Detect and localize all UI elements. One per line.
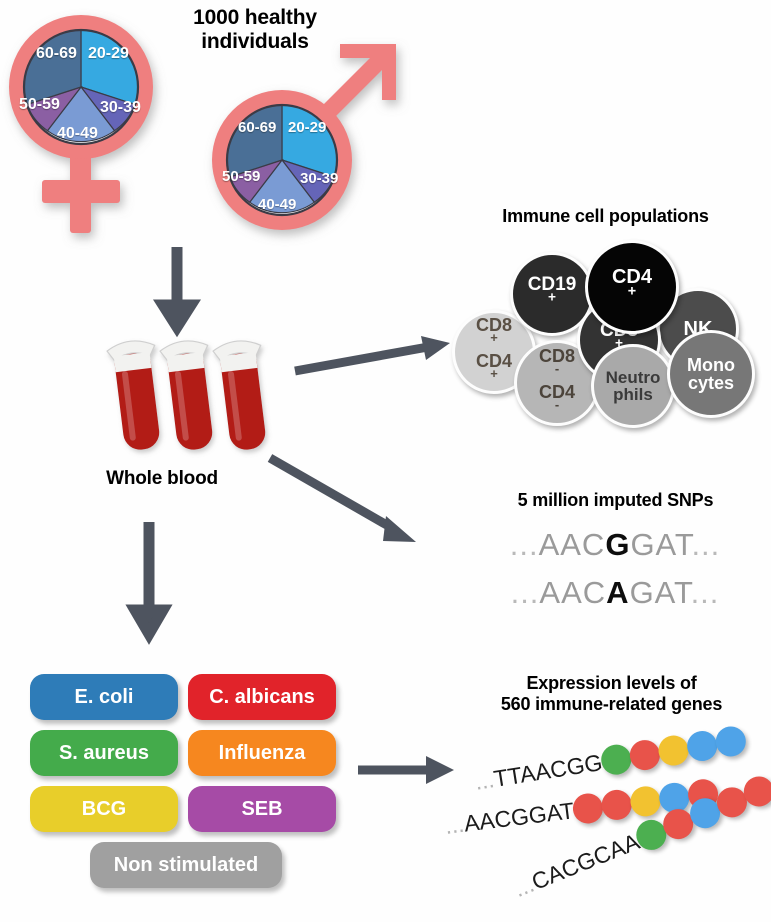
female-symbol: 20-29 30-39 40-49 50-59 60-69 [6,8,221,238]
arrow-blood-to-stimuli [128,522,178,642]
cell-neutrophils: Neutro phils [591,344,675,428]
pie-label-male-30-39: 30-39 [300,170,338,187]
stimulus-s-aureus[interactable]: S. aureus [30,730,178,776]
cell-label-line2: phils [606,386,661,403]
immune-cell-title: Immune cell populations [440,206,771,227]
stimulus-label: BCG [82,798,126,821]
snp-sequence-row-1: ...AACGGAT... [470,527,760,563]
pie-label-50-59: 50-59 [19,96,60,114]
pie-label-male-60-69: 60-69 [238,119,276,136]
stimulus-e-coli[interactable]: E. coli [30,674,178,720]
strand-bases: TTAACGG [492,749,604,792]
stimulus-c-albicans[interactable]: C. albicans [188,674,336,720]
stimulus-non-stimulated[interactable]: Non stimulated [90,842,282,888]
male-symbol: 20-29 30-39 40-49 50-59 60-69 [200,48,415,248]
snp-left: AAC [539,575,606,610]
cell-monocytes: Mono cytes [667,330,755,418]
expression-title: Expression levels of 560 immune-related … [452,673,771,714]
pie-label-20-29: 20-29 [88,45,129,63]
stimulus-label: Non stimulated [114,854,258,877]
snp-prefix: ... [511,575,540,610]
pie-label-male-50-59: 50-59 [222,168,260,185]
strand-bead [600,788,633,821]
strand-bead [629,785,662,818]
pie-label-male-20-29: 20-29 [288,119,326,136]
snp-sequences: ...AACGGAT... ...AACAGAT... [470,527,760,622]
strand-sequence-2: ...AACGGAT [443,797,575,840]
arrow-blood-to-immune-cells [295,330,465,390]
stimulus-label: Influenza [219,742,306,765]
stimulus-label: C. albicans [209,686,315,709]
snp-right: GAT [630,575,691,610]
stimulus-seb[interactable]: SEB [188,786,336,832]
stimulus-label: SEB [241,798,282,821]
expression-title-line2: 560 immune-related genes [452,694,771,715]
pie-label-30-39: 30-39 [100,99,141,117]
whole-blood-label: Whole blood [62,468,262,490]
strand-bead [599,743,633,777]
strand-sequence-3: ...CACGCAA [510,828,643,903]
strand-bead [685,729,719,763]
arrow-blood-to-snps [270,450,460,560]
cell-label-line1: Mono [687,356,735,374]
snps-title: 5 million imputed SNPs [460,490,771,511]
female-symbol-graphic [6,8,221,238]
strand-bases: CACGCAA [528,828,643,895]
immune-cell-cluster: CD8+ CD4+ CD19+ CD4+ NK CD8+ CD8- CD4- [452,236,771,422]
pie-label-60-69: 60-69 [36,45,77,63]
snp-variant-allele-2: A [606,575,629,610]
snp-suffix: ... [691,527,720,562]
strand-sequence-1: ...TTAACGG [473,749,604,796]
snp-sequence-row-2: ...AACAGAT... [470,575,760,611]
strand-bead [713,724,747,758]
cell-cd4pos: CD4+ [585,240,679,334]
stimulus-label: E. coli [75,686,134,709]
arrow-stimuli-to-expression [358,752,468,792]
strand-bases: AACGGAT [462,797,575,836]
stimulus-bcg[interactable]: BCG [30,786,178,832]
cell-label-line1: Neutro [606,369,661,386]
pie-label-male-40-49: 40-49 [258,196,296,213]
pie-label-40-49: 40-49 [57,125,98,143]
snp-left: AAC [539,527,606,562]
arrow-cohort-to-blood [155,247,205,337]
snp-suffix: ... [691,575,720,610]
expression-title-line1: Expression levels of [452,673,771,694]
male-symbol-graphic [200,48,415,248]
snp-prefix: ... [510,527,539,562]
expression-strands: ...TTAACGG ...AACGGAT ...CACGCAA [455,745,771,920]
blood-tubes [100,330,300,470]
strand-bead [571,792,604,825]
snp-right: GAT [630,527,691,562]
cell-label-line2: cytes [687,374,735,392]
strand-bead [627,738,661,772]
strand-bead [656,733,690,767]
stimulus-influenza[interactable]: Influenza [188,730,336,776]
snp-variant-allele-1: G [605,527,630,562]
stimulus-label: S. aureus [59,742,149,765]
figure-canvas: 1000 healthy individuals [0,0,771,922]
